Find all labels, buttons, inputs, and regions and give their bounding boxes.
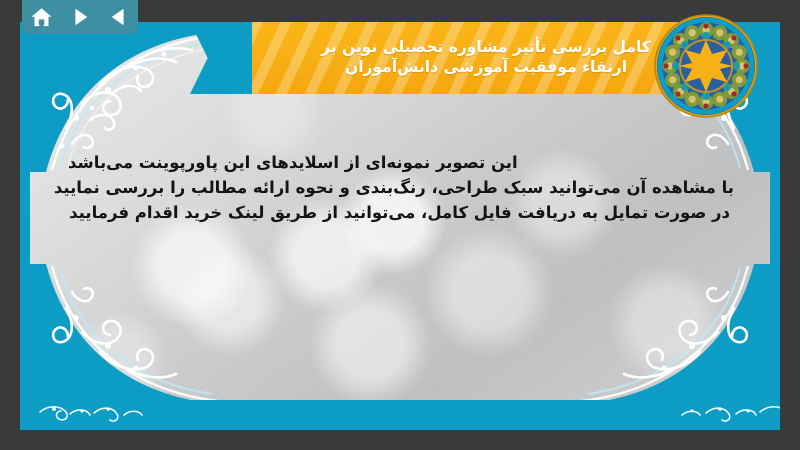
banner-body: کامل بررسی تأثیر مشاوره تحصیلی نوین بر ا… bbox=[252, 22, 720, 94]
corner-ornament-bottom-left bbox=[30, 264, 220, 404]
title-line-1: کامل بررسی تأثیر مشاوره تحصیلی نوین بر bbox=[321, 38, 651, 58]
bottom-ornament-band bbox=[20, 400, 780, 430]
body-line-2: با مشاهده آن می‌توانید سبک طراحی، رنگ‌بن… bbox=[60, 175, 734, 200]
banner-arrow-tail bbox=[190, 22, 258, 94]
slide-body-text: این تصویر نمونه‌ای از اسلایدهای این پاور… bbox=[60, 150, 734, 225]
persian-mandala-medallion-icon bbox=[654, 14, 758, 118]
home-button[interactable] bbox=[27, 4, 55, 30]
body-line-1: این تصویر نمونه‌ای از اسلایدهای این پاور… bbox=[60, 150, 734, 175]
triangle-left-icon bbox=[108, 6, 130, 28]
title-line-2: ارتقاء موفقیت آموزشی دانش‌آموزان bbox=[345, 58, 627, 78]
body-line-3: در صورت تمایل به دریافت فایل کامل، می‌تو… bbox=[60, 200, 734, 225]
home-icon bbox=[30, 6, 53, 29]
back-button[interactable] bbox=[105, 4, 133, 30]
navigation-bar bbox=[22, 0, 138, 34]
title-banner: کامل بررسی تأثیر مشاوره تحصیلی نوین بر ا… bbox=[190, 22, 720, 94]
forward-button[interactable] bbox=[66, 4, 94, 30]
corner-ornament-bottom-right bbox=[580, 264, 770, 404]
triangle-right-icon bbox=[69, 6, 91, 28]
